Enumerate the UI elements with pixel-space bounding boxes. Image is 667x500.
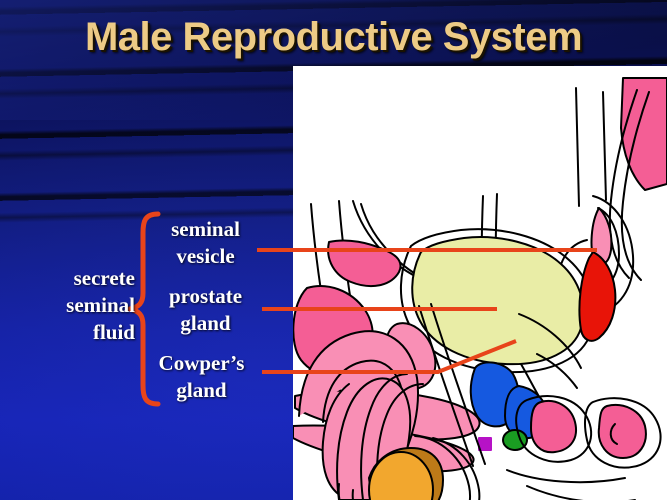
label-cowpers-gland: Cowper’s gland <box>140 350 263 404</box>
anatomy-diagram <box>293 66 667 500</box>
diagram-panel <box>293 66 667 500</box>
page-title: Male Reproductive System <box>0 14 667 60</box>
slide-root: Male Reproductive System <box>0 0 667 500</box>
group-label-secrete-seminal-fluid: secrete seminal fluid <box>10 265 135 346</box>
label-seminal-vesicle: seminal vesicle <box>148 216 263 270</box>
label-prostate-gland: prostate gland <box>148 283 263 337</box>
ejaculatory-duct-marker <box>479 438 491 450</box>
